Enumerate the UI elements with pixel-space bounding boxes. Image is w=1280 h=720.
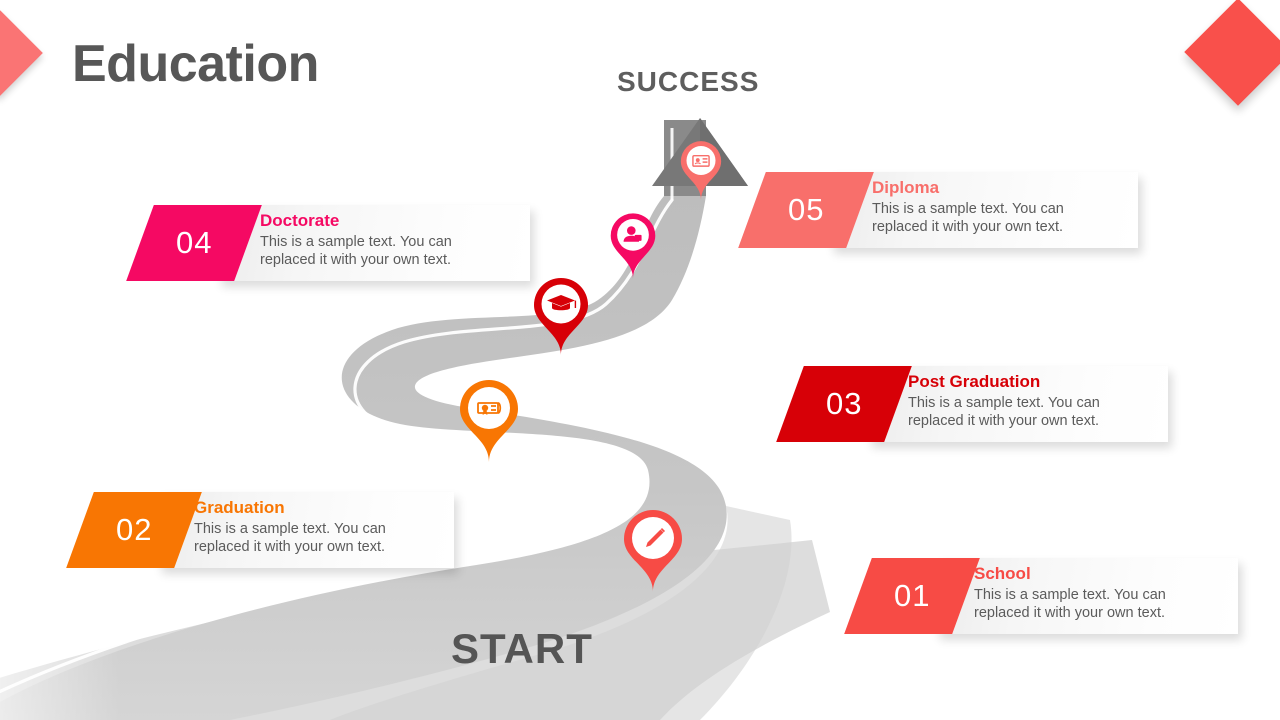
map-pin-diploma[interactable] bbox=[676, 137, 738, 221]
step-body: This is a sample text. You can replaced … bbox=[260, 233, 452, 269]
map-pin-school[interactable] bbox=[622, 508, 684, 592]
step-number: 04 bbox=[176, 225, 212, 261]
step-number: 01 bbox=[894, 578, 930, 614]
step-body: This is a sample text. You can replaced … bbox=[872, 200, 1064, 236]
step-title: Diploma bbox=[872, 178, 1064, 198]
map-pin-post-graduation[interactable] bbox=[530, 275, 592, 359]
map-pin-doctorate[interactable] bbox=[606, 210, 668, 294]
step-body: This is a sample text. You can replaced … bbox=[908, 394, 1100, 430]
page-title: Education bbox=[72, 34, 319, 94]
step-card-doctorate[interactable]: 04 Doctorate This is a sample text. You … bbox=[140, 205, 530, 281]
step-number: 02 bbox=[116, 512, 152, 548]
success-label: SUCCESS bbox=[617, 66, 759, 98]
step-body: This is a sample text. You can replaced … bbox=[194, 520, 386, 556]
start-label: START bbox=[451, 625, 593, 673]
step-title: Post Graduation bbox=[908, 372, 1100, 392]
step-title: Doctorate bbox=[260, 211, 452, 231]
step-body: This is a sample text. You can replaced … bbox=[974, 586, 1166, 622]
step-card-school[interactable]: 01 School This is a sample text. You can… bbox=[858, 558, 1233, 634]
slide-canvas: Education SUCCESS START bbox=[0, 0, 1280, 720]
step-title: Graduation bbox=[194, 498, 386, 518]
step-card-graduation[interactable]: 02 Graduation This is a sample text. You… bbox=[80, 492, 450, 568]
step-card-post-graduation[interactable]: 03 Post Graduation This is a sample text… bbox=[790, 366, 1165, 442]
step-card-diploma[interactable]: 05 Diploma This is a sample text. You ca… bbox=[752, 172, 1132, 248]
step-number: 03 bbox=[826, 386, 862, 422]
step-number: 05 bbox=[788, 192, 824, 228]
map-pin-graduation[interactable] bbox=[458, 378, 520, 462]
step-title: School bbox=[974, 564, 1166, 584]
